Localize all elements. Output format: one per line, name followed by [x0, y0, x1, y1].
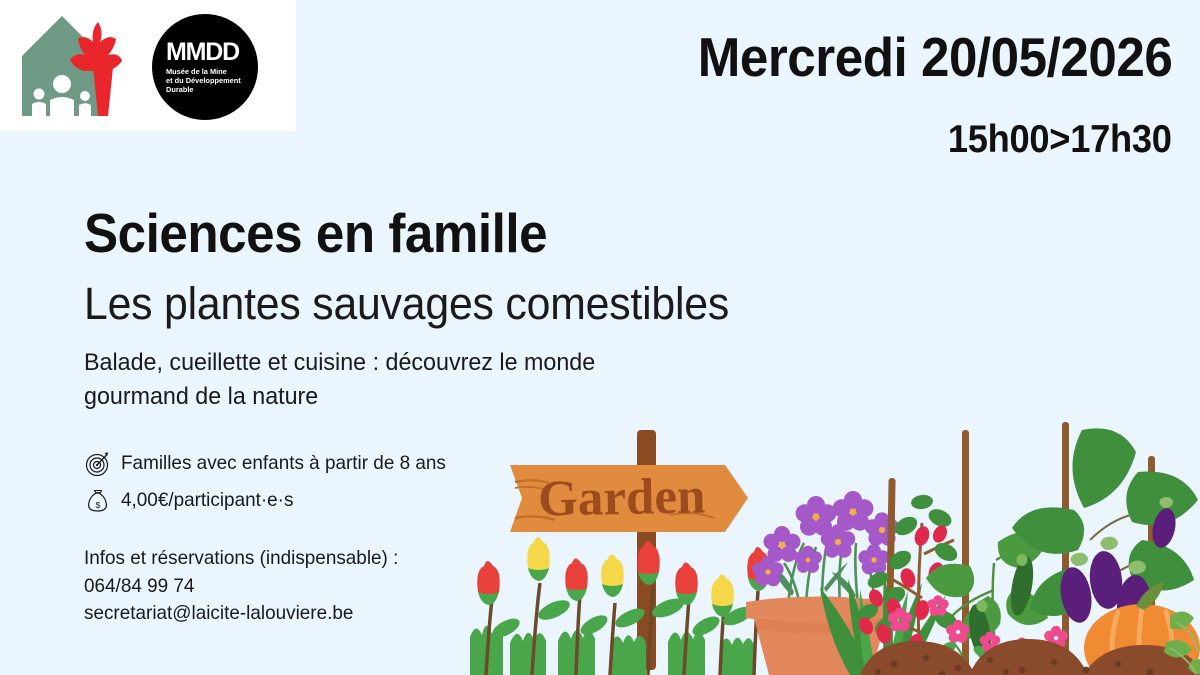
purple-flowers: [752, 491, 899, 586]
eggplant-plant: [1012, 428, 1198, 638]
mmdd-acronym: MMDD: [166, 40, 239, 65]
contact-phone[interactable]: 064/84 99 74: [84, 573, 398, 601]
event-date: Mercredi 20/05/2026: [697, 30, 1172, 85]
info-text-price: 4,00€/participant·e·s: [121, 491, 293, 511]
info-list: Familles avec enfants à partir de 8 ans …: [84, 450, 456, 524]
logo-panel: MMDD Musée de la Mine et du Développemen…: [0, 0, 296, 131]
garden-illustration: Garden: [470, 420, 1200, 675]
poster-canvas: MMDD Musée de la Mine et du Développemen…: [0, 0, 1200, 675]
event-time: 15h00>17h30: [948, 120, 1172, 159]
page-title: Sciences en famille: [84, 205, 856, 263]
money-bag-icon: $: [84, 487, 112, 515]
mmdd-subtitle: Musée de la Mine et du Développement Dur…: [166, 67, 241, 94]
target-icon: [84, 450, 112, 478]
garden-sign: Garden: [510, 465, 748, 532]
info-row-audience: Familles avec enfants à partir de 8 ans: [84, 450, 456, 478]
page-subtitle: Les plantes sauvages comestibles: [84, 279, 873, 329]
main-text-column: Sciences en famille Les plantes sauvages…: [84, 205, 914, 414]
info-row-price: $ 4,00€/participant·e·s: [84, 487, 456, 515]
svg-text:Garden: Garden: [538, 469, 706, 528]
mmdd-logo: MMDD Musée de la Mine et du Développemen…: [152, 14, 258, 120]
event-description: Balade, cueillette et cuisine : découvre…: [84, 346, 690, 414]
svg-text:$: $: [96, 500, 101, 510]
contact-email[interactable]: secretariat@laicite-lalouviere.be: [84, 600, 398, 628]
maison-de-la-laicite-logo: [12, 8, 138, 122]
contact-block: Infos et réservations (indispensable) : …: [84, 545, 398, 628]
info-text-audience: Familles avec enfants à partir de 8 ans: [121, 454, 446, 474]
contact-heading: Infos et réservations (indispensable) :: [84, 545, 398, 573]
